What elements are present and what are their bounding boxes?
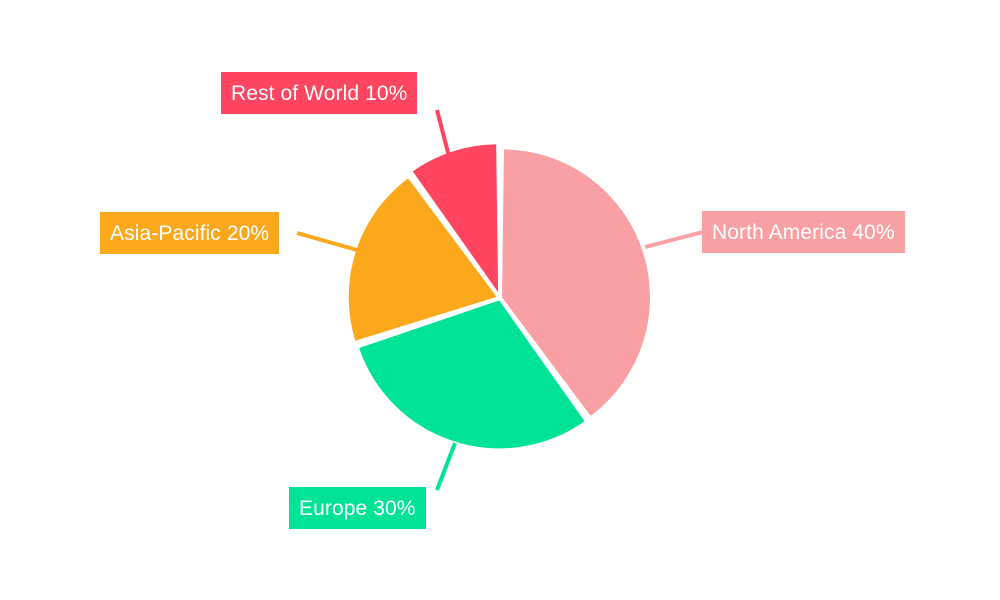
- slice-label-asia-pacific-text: Asia-Pacific 20%: [110, 223, 269, 244]
- slice-label-north-america-text: North America 40%: [712, 222, 895, 243]
- pie-chart-canvas: North America 40% Europe 30% Asia-Pacifi…: [0, 0, 1000, 600]
- slice-label-asia-pacific[interactable]: Asia-Pacific 20%: [100, 212, 279, 254]
- slice-label-europe-text: Europe 30%: [299, 498, 416, 519]
- slice-label-north-america[interactable]: North America 40%: [702, 211, 905, 253]
- leader-line-north-america: [645, 232, 703, 247]
- slice-label-europe[interactable]: Europe 30%: [289, 487, 426, 529]
- slice-label-rest-of-world-text: Rest of World 10%: [231, 83, 407, 104]
- leader-line-europe: [437, 443, 455, 490]
- slice-label-rest-of-world[interactable]: Rest of World 10%: [221, 72, 417, 114]
- pie-chart-svg: [0, 0, 1000, 600]
- pie-slices-group: [349, 144, 650, 448]
- leader-line-asia-pacific: [297, 233, 357, 250]
